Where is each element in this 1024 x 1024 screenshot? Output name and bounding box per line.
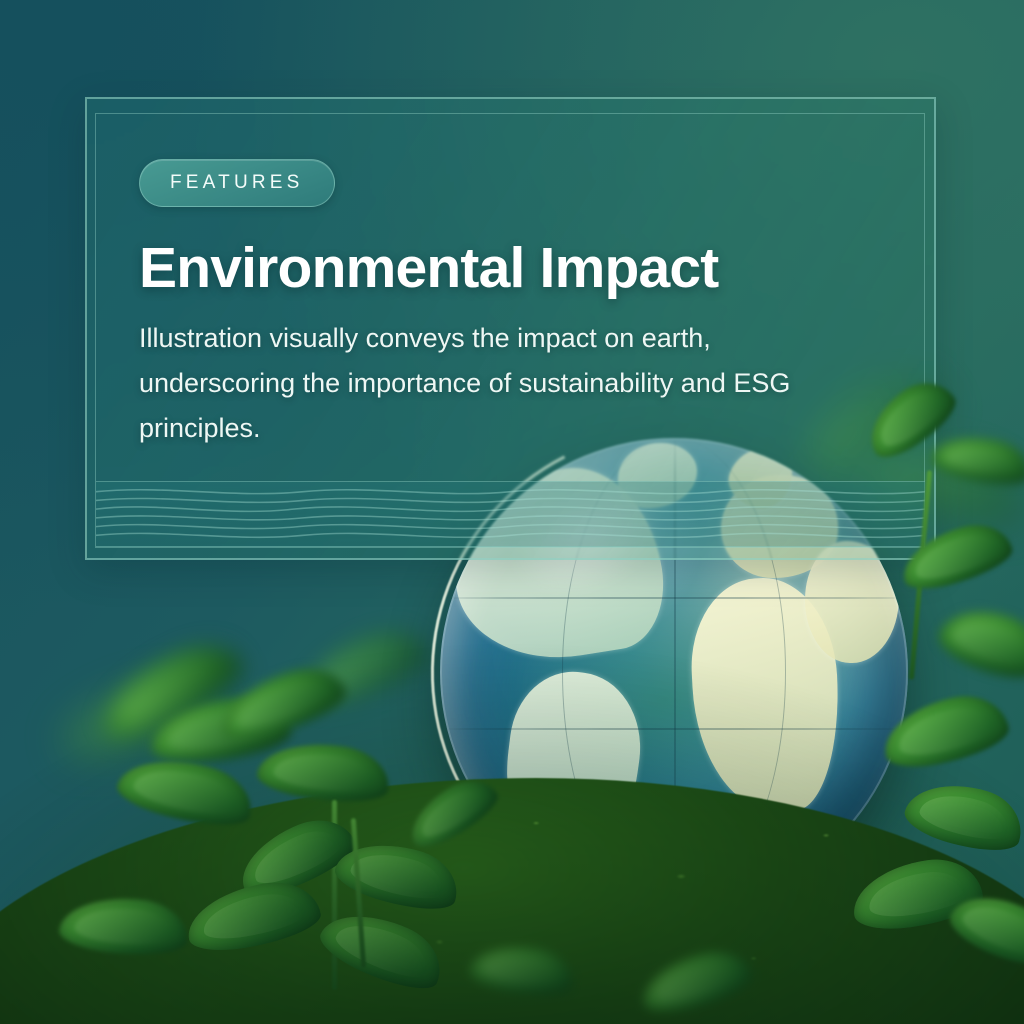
leaf xyxy=(933,595,1024,690)
leaf xyxy=(895,516,1017,597)
leaf xyxy=(929,428,1024,492)
foreground-foliage xyxy=(0,0,1024,1024)
leaf xyxy=(877,688,1013,775)
illustration-canvas: FEATURES Environmental Impact Illustrati… xyxy=(0,0,1024,1024)
